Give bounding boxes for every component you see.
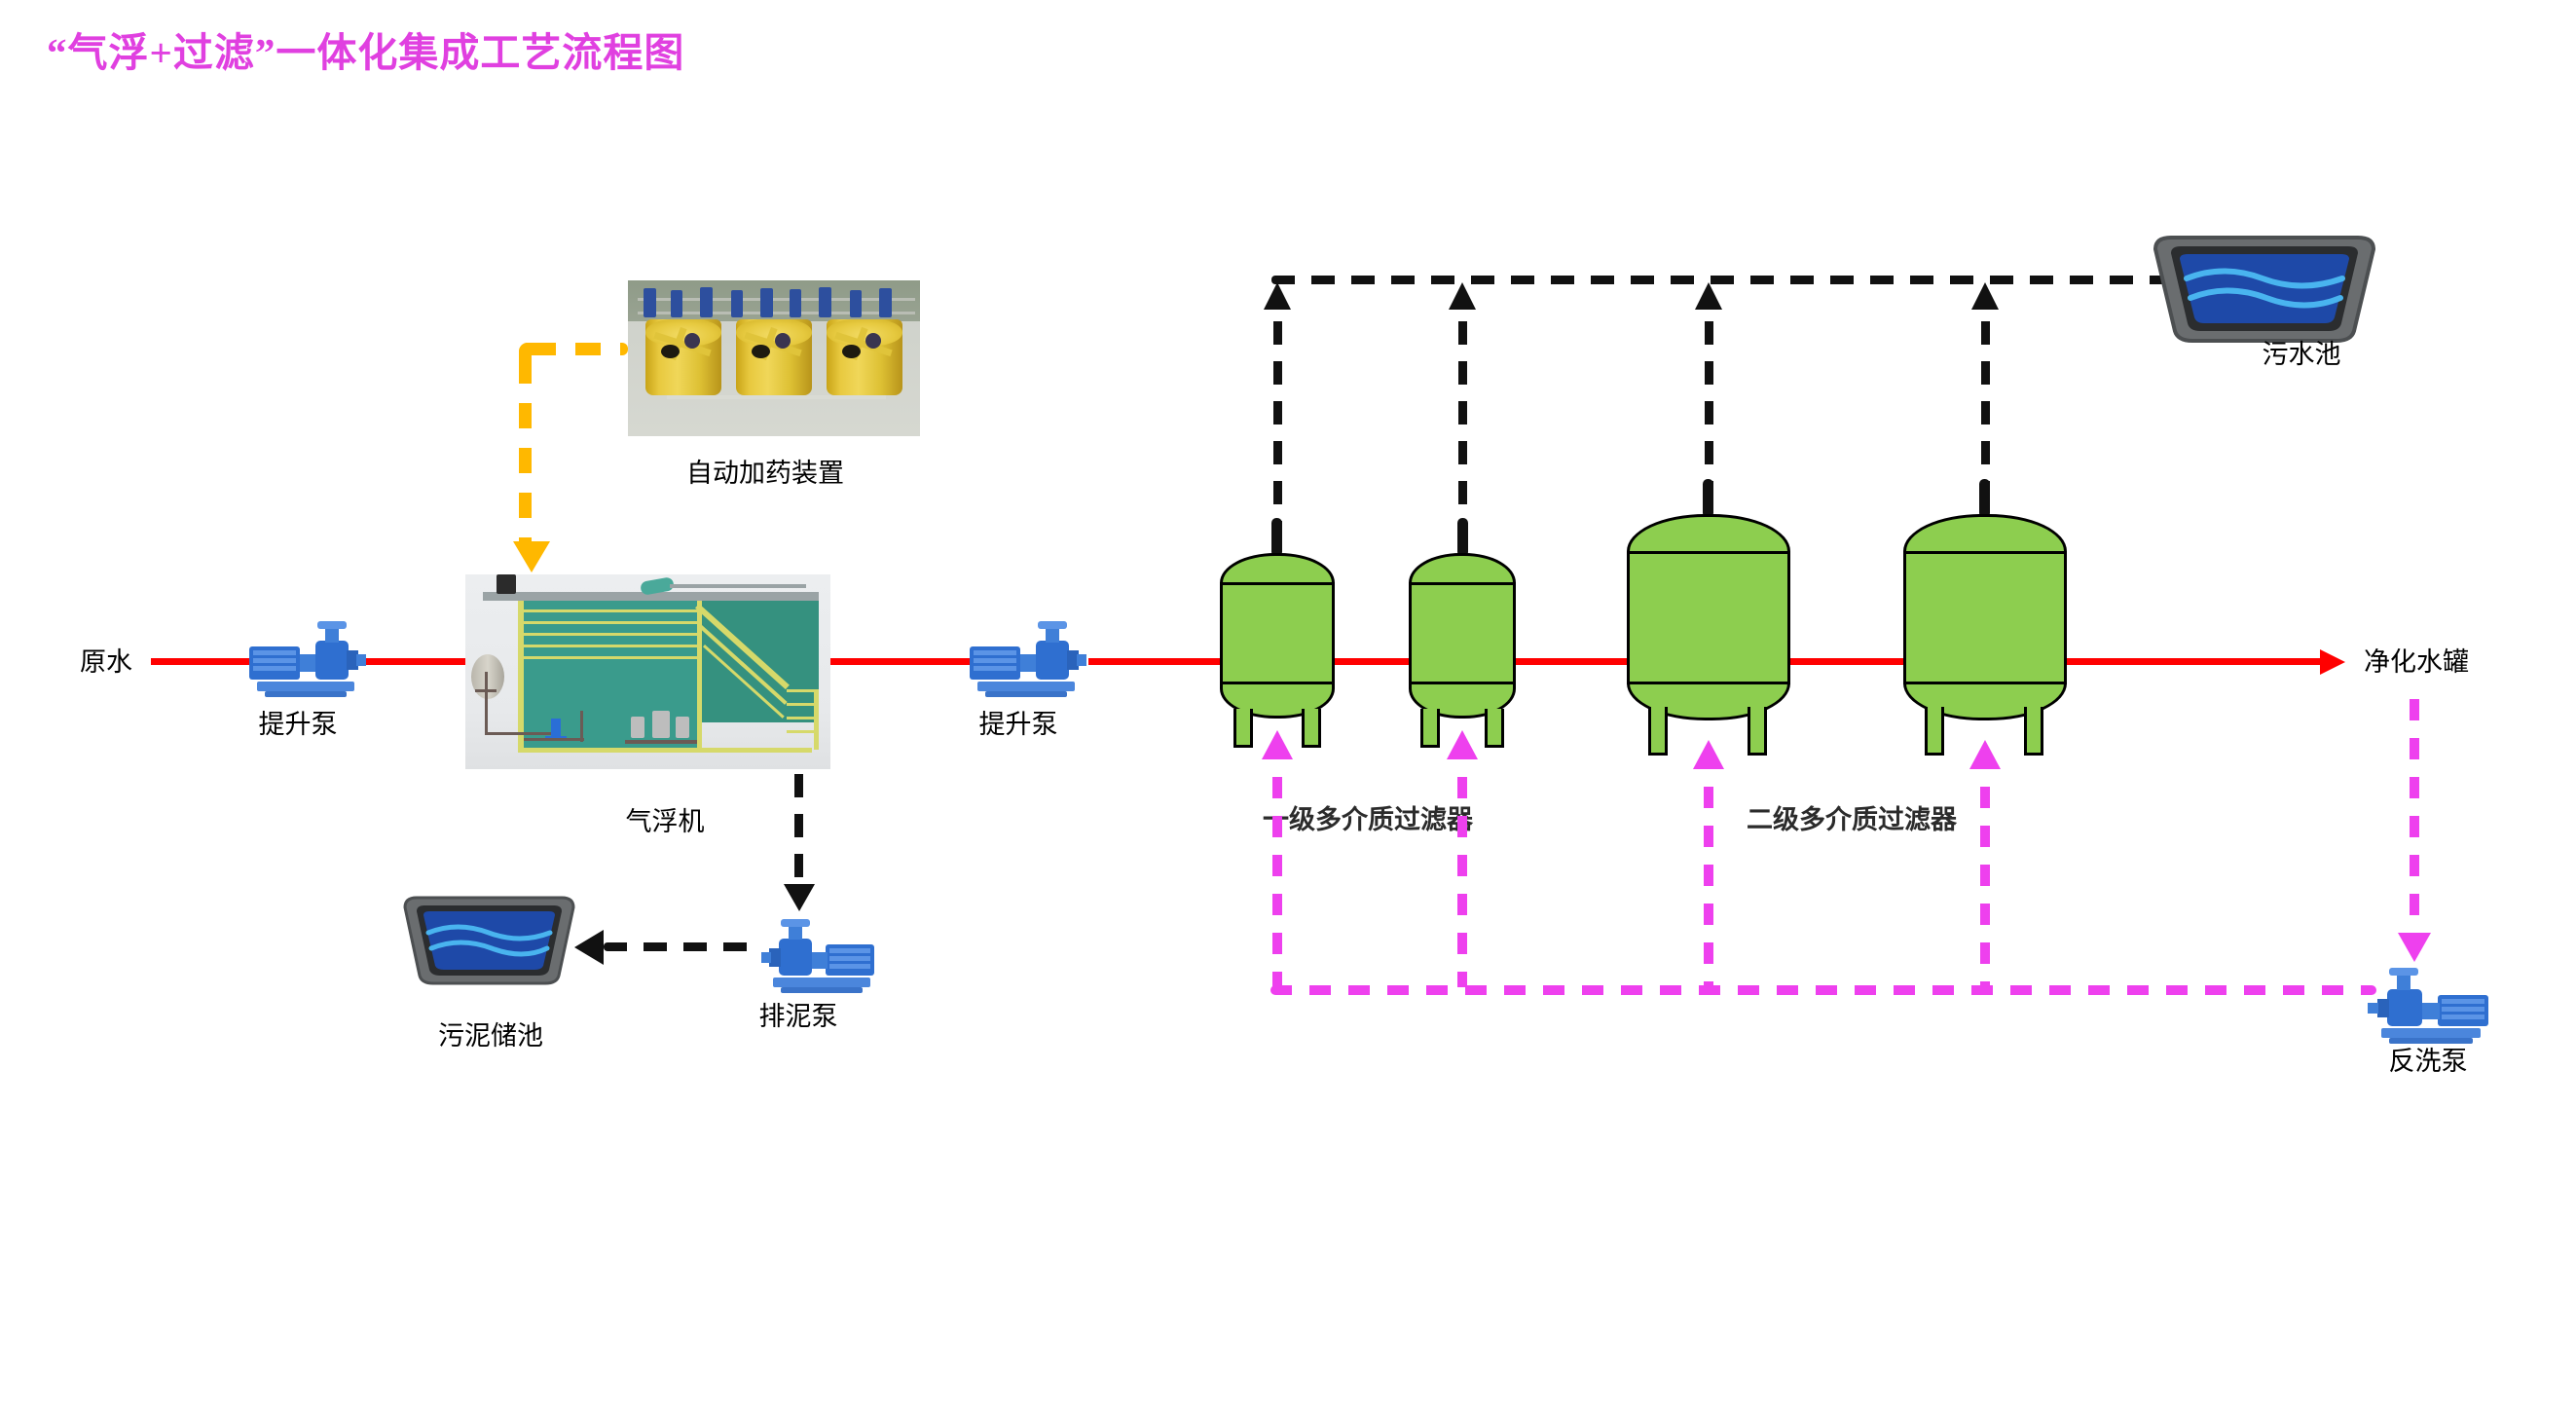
filter-tank-seam — [1409, 682, 1516, 684]
backwash-header-line — [1270, 985, 2376, 995]
dosing-bg-figure — [819, 287, 831, 317]
filter-tank-seam — [1409, 582, 1516, 585]
daf-rail-mid — [697, 601, 702, 753]
dosing-drum-cap — [775, 333, 791, 349]
wastewater-riser-filter1 — [1273, 321, 1282, 540]
daf-dosing-pump — [652, 711, 670, 738]
wastewater-arrow-up-icon — [1264, 282, 1291, 310]
dosing-bg-figure — [879, 288, 892, 317]
daf-stair-step — [787, 717, 816, 719]
daf-rail — [520, 645, 700, 647]
filter-tank-leg — [1485, 709, 1504, 748]
sludge-pool-label: 污泥储池 — [438, 1015, 543, 1052]
wastewater-pool-icon — [2148, 230, 2381, 347]
filter-tank-leg — [1420, 709, 1440, 748]
daf-stair-step — [787, 730, 816, 733]
secondary-filter-tank-1 — [1627, 514, 1790, 720]
daf-motor — [497, 574, 516, 594]
daf-pipe — [524, 738, 584, 741]
pipe-pump1-to-daf — [360, 658, 472, 665]
filter-tank-body — [1409, 553, 1516, 719]
backwash-riser-filter1 — [1272, 777, 1282, 987]
purified-water-tank-label: 净化水罐 — [2364, 641, 2469, 679]
daf-dosing-pump — [631, 717, 644, 738]
filter-tank-leg — [1648, 707, 1668, 756]
dosing-bg-figure — [671, 290, 682, 317]
filter-tank-leg — [1748, 707, 1767, 756]
backwash-supply-line — [2410, 699, 2419, 941]
pipe-filter1-to-filter2 — [1324, 658, 1421, 665]
process-flow-diagram: “气浮+过滤”一体化集成工艺流程图 原水 净化水罐 — [0, 0, 2576, 1402]
dosing-device-image — [628, 280, 920, 436]
daf-rail — [520, 656, 700, 659]
dosing-drum-hole — [661, 345, 680, 358]
filter-tank-seam — [1903, 682, 2067, 684]
dosing-bg-figure — [790, 289, 801, 317]
backwash-riser-filter4 — [1980, 787, 1990, 987]
sludge-arrow-down-icon — [784, 884, 815, 911]
pipe-filter3-to-filter4 — [1830, 658, 1913, 665]
daf-scraper-beam — [670, 584, 806, 588]
filter-tank-seam — [1903, 551, 2067, 554]
dosing-bg-figure — [760, 288, 773, 317]
dosing-arrow-down-icon — [513, 541, 550, 572]
pipe-daf-to-pump2 — [832, 658, 974, 665]
filter-tank-seam — [1220, 682, 1335, 684]
wastewater-pool-label: 污水池 — [2263, 333, 2341, 371]
dosing-device-label: 自动加药装置 — [686, 452, 844, 490]
filter-tank-body — [1903, 514, 2067, 720]
secondary-filter-tank-2 — [1903, 514, 2067, 720]
sludge-line-pump-to-pool — [604, 942, 755, 951]
daf-rail-bottom — [520, 748, 812, 753]
lift-pump-2-icon — [966, 613, 1094, 703]
backwash-arrow-down-icon — [2398, 933, 2431, 962]
raw-water-label: 原水 — [80, 641, 132, 679]
sludge-line-daf-to-pump — [794, 774, 803, 889]
lift-pump-1-icon — [245, 613, 374, 703]
filter-tank-body — [1220, 553, 1335, 719]
secondary-filter-label: 二级多介质过滤器 — [1747, 798, 1957, 836]
wastewater-riser-filter3 — [1705, 321, 1713, 501]
daf-machine-label: 气浮机 — [626, 800, 705, 838]
wastewater-arrow-up-icon — [1449, 282, 1476, 310]
wastewater-header-line — [1271, 276, 2177, 284]
filter-tank-leg — [1925, 707, 1944, 756]
pipe-filter4-to-tank — [2103, 658, 2322, 665]
daf-rail — [520, 621, 700, 624]
dosing-drum — [645, 319, 721, 395]
daf-rail — [520, 633, 700, 636]
filter-tank-seam — [1627, 682, 1790, 684]
primary-filter-tank-2 — [1409, 553, 1516, 719]
filter-tank-leg — [1233, 709, 1253, 748]
filter-tank-leg — [1302, 709, 1321, 748]
backwash-arrow-up-icon — [1693, 740, 1724, 769]
daf-dosing-pump — [676, 717, 689, 738]
dosing-bg-figure — [731, 290, 743, 317]
filter-tank-seam — [1627, 551, 1790, 554]
backwash-arrow-up-icon — [1969, 740, 2001, 769]
primary-filter-label: 一级多介质过滤器 — [1263, 798, 1473, 836]
daf-pipe — [485, 672, 488, 734]
sludge-pump-label: 排泥泵 — [759, 995, 838, 1033]
dosing-bottom-pipe — [667, 395, 886, 399]
filter-tank-seam — [1220, 582, 1335, 585]
dosing-drum-cap — [865, 333, 881, 349]
wastewater-arrow-up-icon — [1695, 282, 1722, 310]
dosing-bg-figure — [850, 290, 862, 317]
backwash-arrow-up-icon — [1447, 730, 1478, 759]
arrow-to-purified-tank-icon — [2320, 649, 2345, 675]
dosing-drum-hole — [842, 345, 861, 358]
backwash-pump-label: 反洗泵 — [2389, 1040, 2468, 1078]
dosing-drum-hole — [752, 345, 770, 358]
lift-pump-2-label: 提升泵 — [979, 703, 1058, 741]
dosing-bg-figure — [644, 288, 656, 317]
dosing-line-vertical — [519, 358, 532, 545]
lift-pump-1-label: 提升泵 — [259, 703, 338, 741]
dosing-drum — [736, 319, 812, 395]
daf-stair-step — [787, 703, 816, 706]
daf-pipe — [485, 732, 555, 735]
daf-pipe — [475, 689, 497, 692]
wastewater-riser-filter2 — [1458, 321, 1467, 540]
daf-machine-image — [465, 574, 830, 769]
backwash-pump-icon — [2364, 962, 2494, 1050]
wastewater-arrow-up-icon — [1971, 282, 1999, 310]
daf-stair-post — [814, 689, 819, 750]
dosing-bg-figure — [700, 287, 713, 317]
primary-filter-tank-1 — [1220, 553, 1335, 719]
wastewater-riser-filter4 — [1981, 321, 1990, 501]
filter-tank-body — [1627, 514, 1790, 720]
daf-valve — [551, 719, 561, 738]
dosing-drum — [827, 319, 902, 395]
dosing-drum-cap — [684, 333, 700, 349]
daf-rail — [520, 609, 700, 612]
daf-stair-step — [787, 689, 816, 692]
page-title: “气浮+过滤”一体化集成工艺流程图 — [47, 19, 684, 78]
backwash-arrow-up-icon — [1262, 730, 1293, 759]
daf-pipe — [580, 711, 583, 742]
pipe-pump2-to-filter1 — [1088, 658, 1230, 665]
backwash-riser-filter3 — [1704, 787, 1713, 987]
daf-air-cylinder — [471, 654, 504, 699]
sludge-pool-icon — [399, 892, 579, 989]
pipe-filter2-to-filter3 — [1504, 658, 1636, 665]
daf-pipe — [625, 740, 697, 744]
backwash-riser-filter2 — [1457, 777, 1467, 987]
sludge-pump-icon — [757, 913, 882, 999]
filter-tank-leg — [2024, 707, 2043, 756]
